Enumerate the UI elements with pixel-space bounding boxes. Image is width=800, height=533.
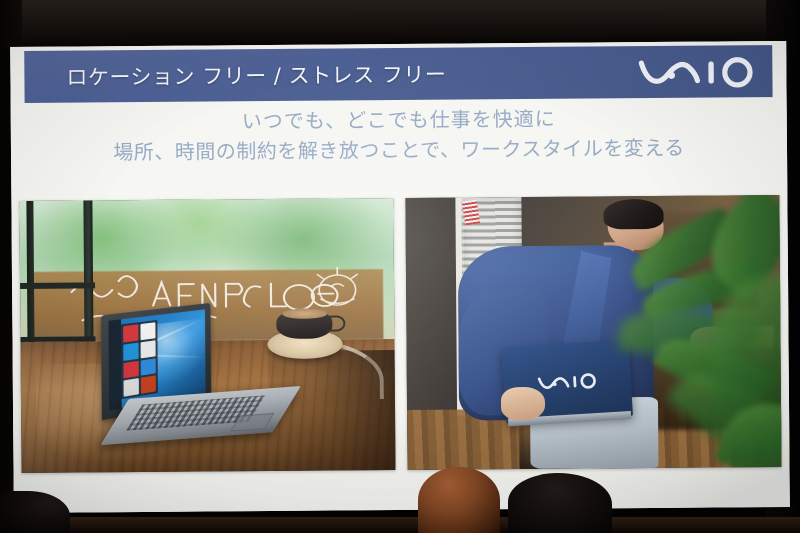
windows-start-tiles xyxy=(122,320,158,399)
vaio-lid-logo xyxy=(537,371,598,393)
start-tile xyxy=(141,340,156,358)
windows-taskbar xyxy=(108,319,122,410)
start-tile xyxy=(124,378,139,396)
slide-header-bar: ロケーション フリー / ストレス フリー xyxy=(24,45,772,103)
subtitle-line-2: 場所、時間の制約を解き放つことで、ワークスタイルを変える xyxy=(11,133,787,169)
window-mullion-h xyxy=(20,282,95,289)
man-hair xyxy=(604,199,664,229)
slide-subtitle: いつでも、どこでも仕事を快適に 場所、時間の制約を解き放つことで、ワークスタイル… xyxy=(11,103,787,168)
start-tile xyxy=(141,358,156,376)
window-mullion-2 xyxy=(27,201,35,353)
start-tile xyxy=(124,360,139,378)
window-mullion xyxy=(83,200,93,358)
audience-head xyxy=(418,467,500,533)
audience-head xyxy=(508,473,612,533)
man-left-hand xyxy=(500,387,545,420)
photo-man-with-vaio xyxy=(405,195,781,470)
audience-silhouettes xyxy=(0,463,800,533)
laptop-device xyxy=(103,308,284,445)
vaio-logo xyxy=(638,54,756,89)
start-tile xyxy=(124,342,139,360)
start-tile xyxy=(124,324,139,342)
start-tile xyxy=(141,375,156,393)
presentation-slide: ロケーション フリー / ストレス フリー いつでも、どこでも仕事を快適に 場所… xyxy=(10,41,790,513)
projection-screen: ロケーション フリー / ストレス フリー いつでも、どこでも仕事を快適に 場所… xyxy=(10,41,790,513)
slide-photo-row xyxy=(11,195,789,481)
room-wall-top xyxy=(0,0,800,46)
slide-title: ロケーション フリー / ストレス フリー xyxy=(66,59,446,92)
start-tile xyxy=(141,322,156,340)
man-right-hand xyxy=(691,326,736,351)
photo-laptop-cafe xyxy=(19,198,395,473)
audience-head xyxy=(0,491,70,533)
